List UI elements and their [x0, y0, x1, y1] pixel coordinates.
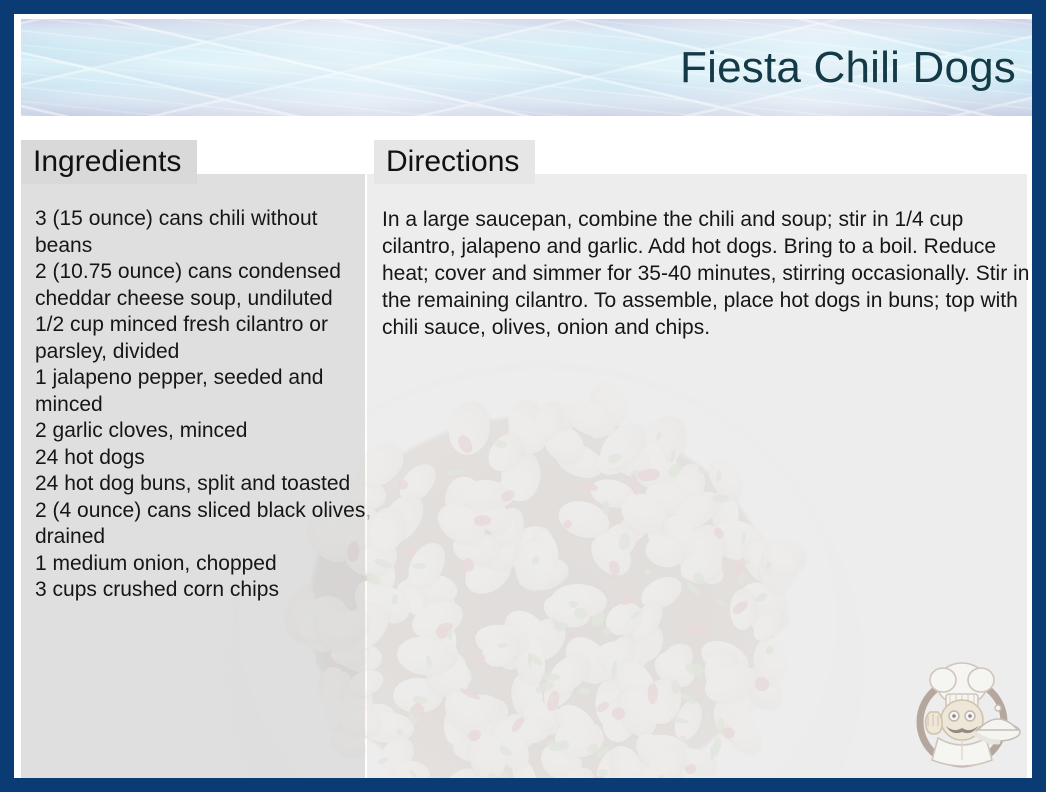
slide-canvas: Fiesta Chili Dogs Ingredients 3 (15 ounc… — [14, 14, 1032, 778]
title-banner: Fiesta Chili Dogs — [21, 19, 1032, 116]
page-title: Fiesta Chili Dogs — [680, 44, 1016, 90]
ingredients-list: 3 (15 ounce) cans chili without beans 2 … — [35, 206, 373, 604]
chef-logo-icon — [898, 650, 1026, 774]
directions-text: In a large saucepan, combine the chili a… — [382, 206, 1030, 341]
directions-heading: Directions — [374, 140, 535, 184]
ingredients-heading: Ingredients — [21, 140, 197, 184]
recipe-slide: Fiesta Chili Dogs Ingredients 3 (15 ounc… — [0, 0, 1046, 792]
